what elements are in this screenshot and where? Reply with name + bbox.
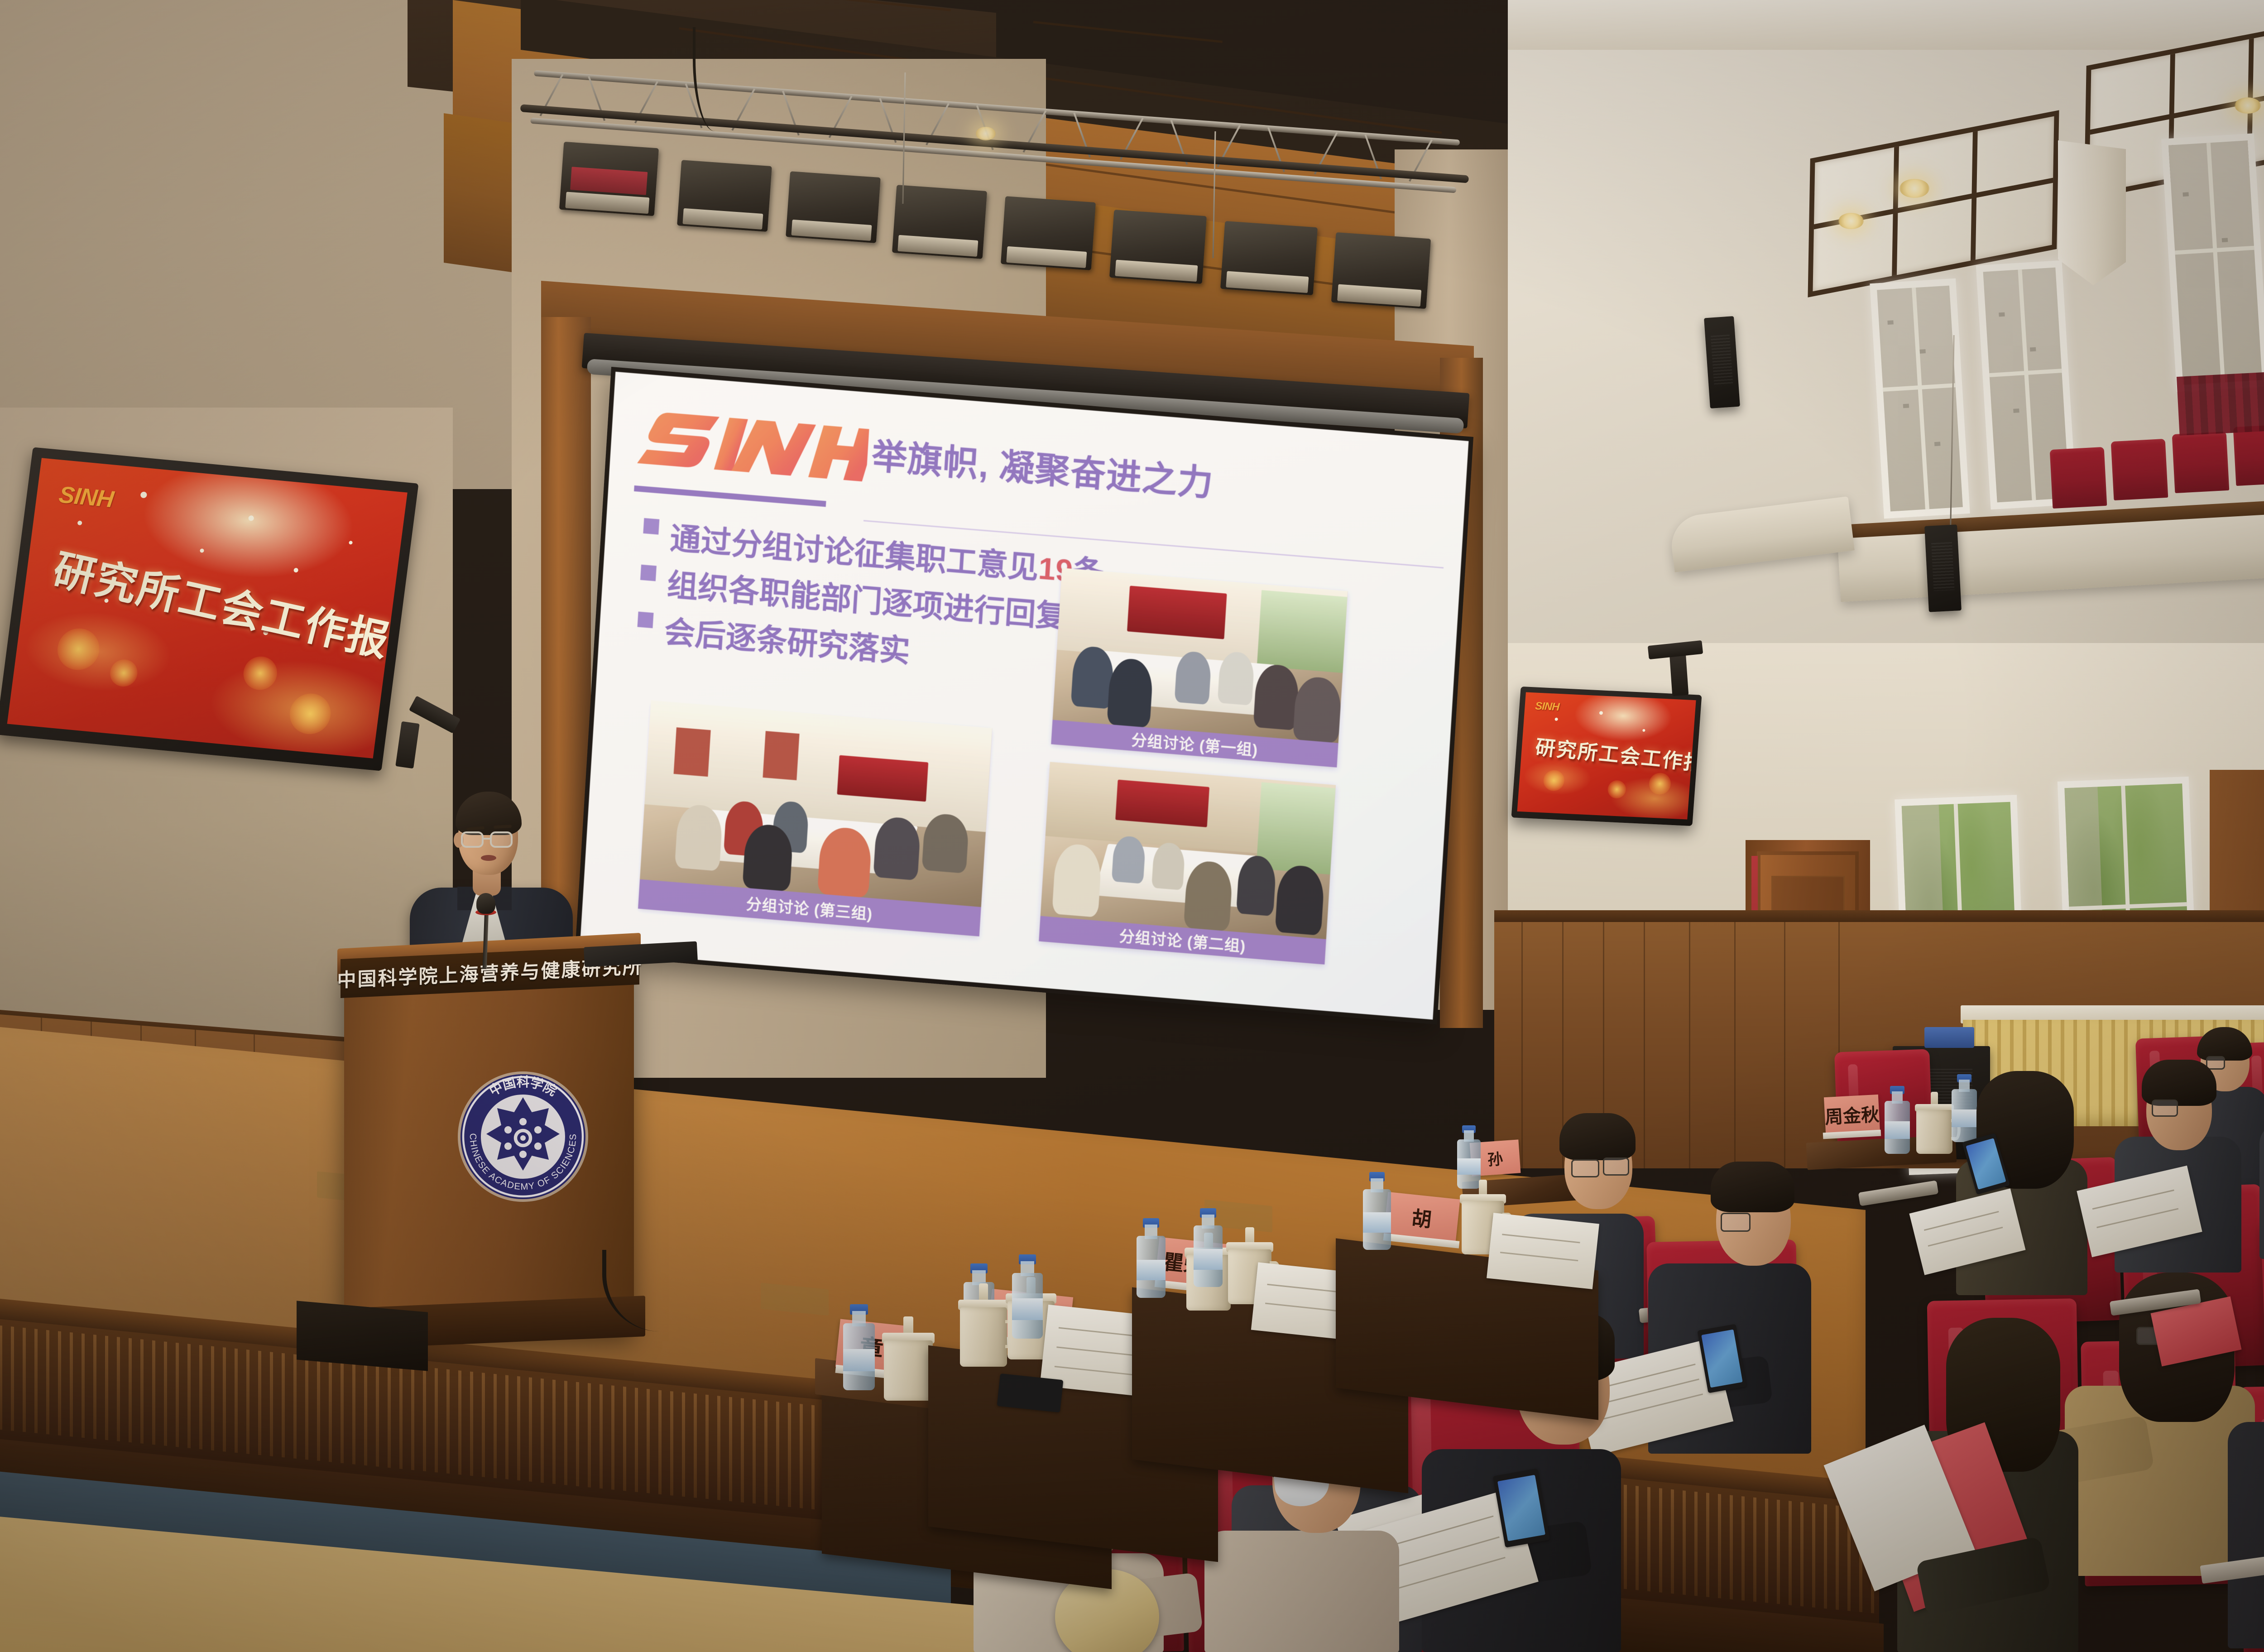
slide-content: 举旗帜, 凝聚奋进之力 通过分组讨论征集职工意见19条 组织各职能部门逐项进行回… [580, 372, 1468, 1020]
floor-equipment [297, 1301, 428, 1371]
auditorium-scene: 举旗帜, 凝聚奋进之力 通过分组讨论征集职工意见19条 组织各职能部门逐项进行回… [0, 0, 2264, 1652]
balcony-curtain [2177, 366, 2264, 436]
water-bottle[interactable] [1457, 1125, 1481, 1189]
recessed-light [1838, 213, 1864, 229]
slide-photo-group3: 分组讨论 (第三组) [638, 700, 992, 936]
cas-emblem: 中国科学院 CHINESE ACADEMY OF SCIENCES [455, 1069, 591, 1205]
water-bottle[interactable] [1952, 1074, 1977, 1142]
bullet-square-icon [638, 612, 654, 629]
handout-paper[interactable] [1487, 1213, 1599, 1289]
monitor-logo: SINH [58, 481, 115, 514]
tea-mug[interactable] [960, 1296, 1007, 1367]
stage-spotlight [1001, 196, 1096, 270]
right-monitor-screen: SINH 研究所工会工作报告 [1517, 692, 1696, 819]
ceiling-fixture [976, 127, 996, 140]
name-card: 周金秋 [1824, 1095, 1880, 1134]
bullet-square-icon [640, 565, 657, 581]
corbel [2058, 140, 2126, 285]
water-bottle[interactable] [1194, 1208, 1223, 1287]
water-bottle[interactable] [843, 1304, 875, 1390]
stage-spotlight [1109, 210, 1207, 284]
tea-mug[interactable] [884, 1329, 933, 1401]
water-bottle[interactable] [1363, 1172, 1391, 1250]
monitor-mount-post [1669, 652, 1689, 696]
balcony-seat [2233, 424, 2264, 486]
window-upper-3 [2161, 133, 2264, 392]
phone-on-desk[interactable] [997, 1373, 1064, 1412]
water-bottle[interactable] [1885, 1086, 1910, 1154]
microphone-head [476, 893, 495, 914]
left-monitor: SINH 研究所工会工作报告 [0, 447, 419, 771]
tea-mug[interactable] [1916, 1101, 1952, 1154]
projection-screen: 举旗帜, 凝聚奋进之力 通过分组讨论征集职工意见19条 组织各职能部门逐项进行回… [575, 367, 1474, 1024]
sinh-logo-icon [635, 394, 870, 496]
recessed-light [2235, 97, 2261, 114]
equipment-case [1924, 1027, 1974, 1048]
speaker-glasses-right [490, 831, 513, 848]
slide-photo-group2: 分组讨论 (第二组) [1039, 762, 1336, 964]
ceiling-beam [1508, 0, 2264, 50]
slide-photo-group1: 分组讨论 (第一组) [1051, 568, 1348, 768]
stage-spotlight [677, 160, 772, 232]
stage-spotlight [786, 171, 881, 243]
stage-spotlight [1220, 221, 1318, 295]
monitor-logo: SINH [1535, 700, 1559, 713]
balcony-seat [2050, 447, 2107, 509]
seat-arm [1858, 1180, 1939, 1206]
water-bottle[interactable] [1012, 1254, 1043, 1339]
wall-speaker [1704, 316, 1740, 408]
stage-spotlight [892, 185, 987, 259]
recessed-light [1899, 179, 1929, 198]
speaker-glasses-left [461, 831, 484, 848]
ceiling-speaker [1924, 524, 1962, 612]
ceiling-seam [1033, 21, 1223, 43]
stage-spotlight [1331, 232, 1431, 309]
slide-title: 举旗帜, 凝聚奋进之力 [870, 427, 1215, 506]
bullet-square-icon [643, 518, 660, 535]
balcony-seat [2111, 439, 2168, 500]
balcony-seat [2172, 432, 2230, 493]
speaker-mouth [481, 855, 496, 861]
right-monitor: SINH 研究所工会工作报告 [1511, 687, 1702, 826]
stage-spotlight [559, 142, 659, 216]
speaker-glasses-bridge [482, 838, 490, 840]
water-bottle[interactable] [1137, 1218, 1166, 1298]
wainscot-cap-right [1494, 910, 2264, 922]
left-monitor-screen: SINH 研究所工会工作报告 [7, 458, 408, 758]
window-upper-1 [1870, 279, 1970, 519]
